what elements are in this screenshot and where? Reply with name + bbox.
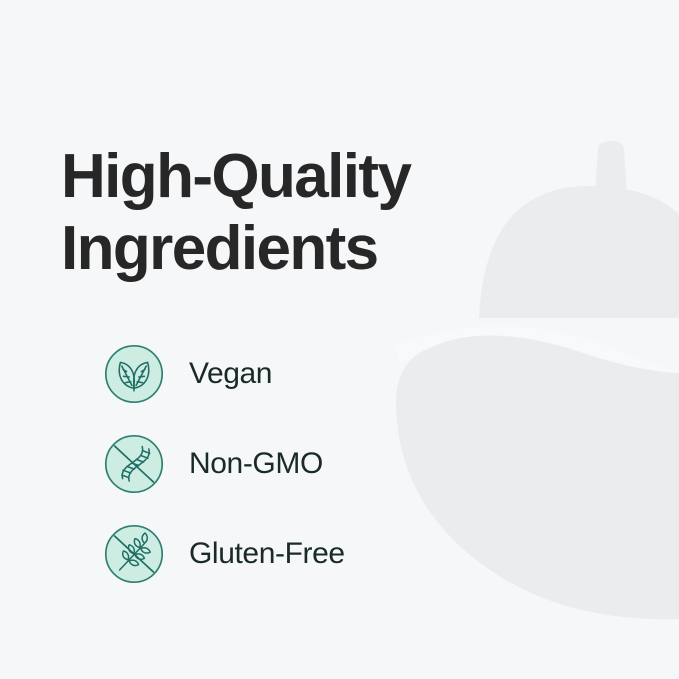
feature-label-non-gmo: Non-GMO (189, 449, 323, 479)
platter-blob-shape (396, 335, 679, 679)
dome-knob-shape (595, 141, 627, 200)
product-feature-poster: High-Quality Ingredients (0, 0, 679, 679)
feature-item-non-gmo: Non-GMO (104, 434, 345, 494)
page-title: High-Quality Ingredients (61, 141, 521, 285)
feature-item-vegan: Vegan (104, 344, 345, 404)
feature-item-gluten-free: Gluten-Free (104, 524, 345, 584)
feature-label-gluten-free: Gluten-Free (189, 539, 345, 569)
feature-label-vegan: Vegan (189, 359, 272, 389)
feature-list: Vegan (104, 344, 345, 584)
dna-helix-crossed-out-icon (104, 434, 164, 494)
wheat-stalk-crossed-out-icon (104, 524, 164, 584)
two-leaves-icon (104, 344, 164, 404)
watermark-gap-shape (395, 326, 679, 389)
